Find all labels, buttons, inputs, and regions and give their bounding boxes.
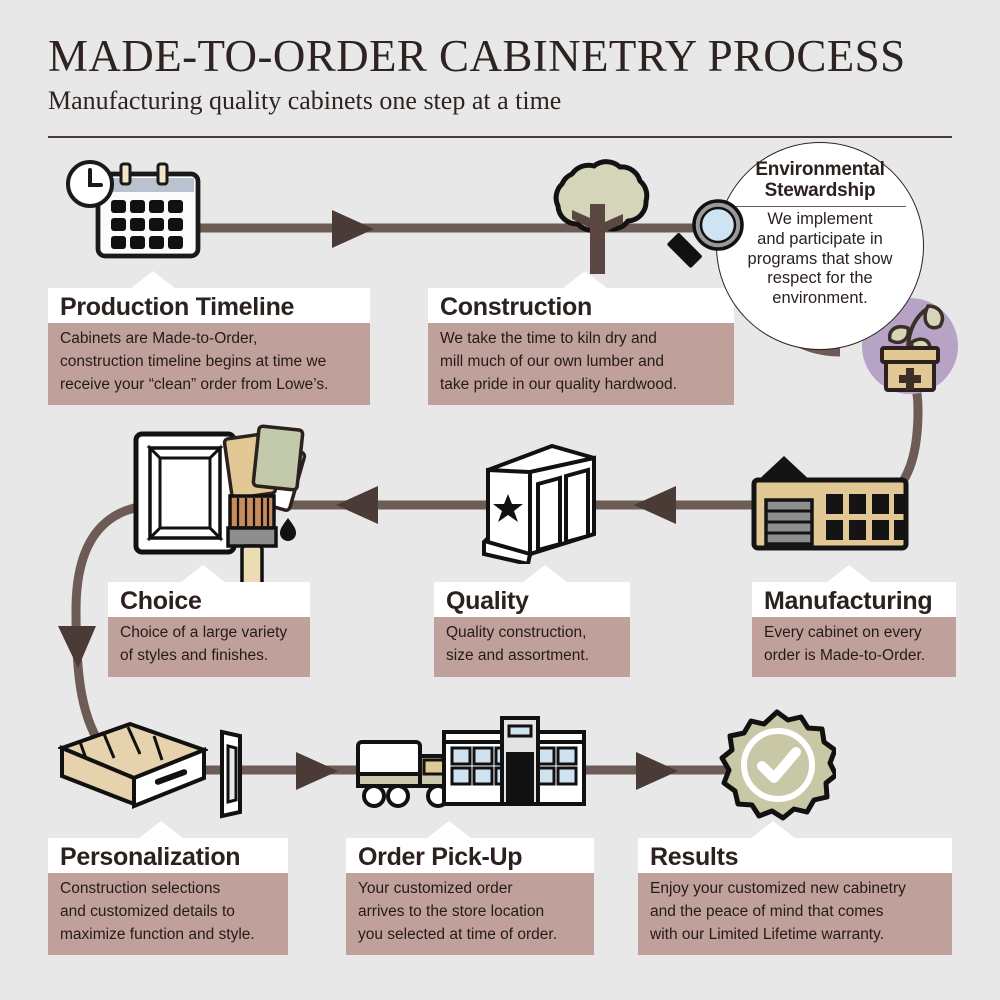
magnifier-icon [662, 192, 758, 282]
card-manufacturing[interactable]: Manufacturing Every cabinet on every ord… [752, 582, 956, 677]
card-construction[interactable]: Construction We take the time to kiln dr… [428, 288, 734, 405]
card-production-timeline[interactable]: Production Timeline Cabinets are Made-to… [48, 288, 370, 405]
card-body: Your customized order arrives to the sto… [346, 873, 594, 955]
card-body: Enjoy your customized new cabinetry and … [638, 873, 952, 955]
callout-divider [734, 206, 906, 207]
factory-icon [742, 452, 920, 558]
card-body: We take the time to kiln dry and mill mu… [428, 323, 734, 405]
card-body: Choice of a large variety of styles and … [108, 617, 310, 677]
tree-icon [528, 152, 672, 280]
card-title: Quality [434, 582, 630, 617]
card-results[interactable]: Results Enjoy your customized new cabine… [638, 838, 952, 955]
store-building-icon [440, 712, 588, 812]
card-title: Choice [108, 582, 310, 617]
infographic-canvas: MADE-TO-ORDER CABINETRY PROCESS Manufact… [0, 0, 1000, 1000]
cabinet-pull-icon [212, 726, 252, 822]
card-quality[interactable]: Quality Quality construction, size and a… [434, 582, 630, 677]
card-title: Production Timeline [48, 288, 370, 323]
card-title: Results [638, 838, 952, 873]
card-title: Manufacturing [752, 582, 956, 617]
card-body: Quality construction, size and assortmen… [434, 617, 630, 677]
card-choice[interactable]: Choice Choice of a large variety of styl… [108, 582, 310, 677]
card-body: Construction selections and customized d… [48, 873, 288, 955]
card-body: Every cabinet on every order is Made-to-… [752, 617, 956, 677]
card-order-pick-up[interactable]: Order Pick-Up Your customized order arri… [346, 838, 594, 955]
drawer-icon [58, 718, 208, 822]
card-title: Construction [428, 288, 734, 323]
callout-title: Environmental Stewardship [755, 159, 884, 202]
card-title: Personalization [48, 838, 288, 873]
check-badge-icon [718, 708, 836, 826]
calendar-clock-icon [56, 156, 216, 274]
card-personalization[interactable]: Personalization Construction selections … [48, 838, 288, 955]
card-title: Order Pick-Up [346, 838, 594, 873]
cabinet-icon [478, 442, 604, 564]
card-body: Cabinets are Made-to-Order, construction… [48, 323, 370, 405]
